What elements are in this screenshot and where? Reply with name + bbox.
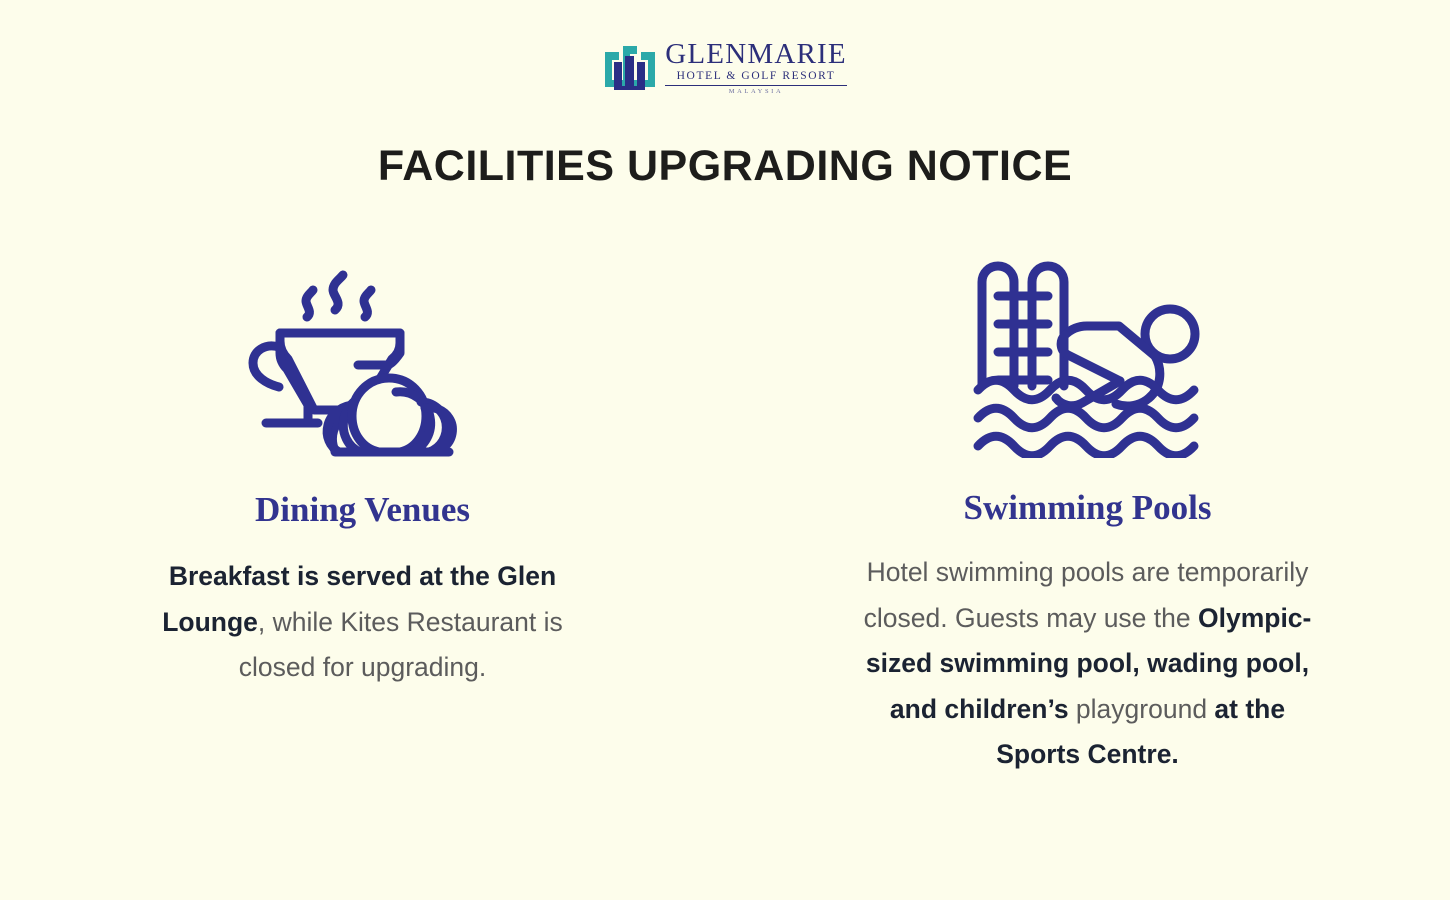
swimming-pool-icon xyxy=(964,255,1212,460)
brand-logo: GLENMARIE HOTEL & GOLF RESORT MALAYSIA xyxy=(0,40,1450,95)
facility-card-pools: Swimming Pools Hotel swimming pools are … xyxy=(725,255,1450,778)
facility-body-dining: Breakfast is served at the Glen Lounge, … xyxy=(135,554,590,691)
page-title: FACILITIES UPGRADING NOTICE xyxy=(0,142,1450,191)
logo-subtitle: HOTEL & GOLF RESORT xyxy=(665,71,847,86)
logo-wordmark: GLENMARIE HOTEL & GOLF RESORT MALAYSIA xyxy=(665,40,847,95)
facility-columns: Dining Venues Breakfast is served at the… xyxy=(0,255,1450,778)
facility-heading-pools: Swimming Pools xyxy=(964,488,1212,528)
facility-heading-dining: Dining Venues xyxy=(255,490,470,530)
glenmarie-logo-mark xyxy=(603,42,657,94)
facility-card-dining: Dining Venues Breakfast is served at the… xyxy=(0,255,725,778)
logo-name: GLENMARIE xyxy=(665,40,847,69)
logo-country: MALAYSIA xyxy=(729,89,784,96)
facility-body-pools: Hotel swimming pools are temporarily clo… xyxy=(848,550,1328,778)
body-text-regular: playground xyxy=(1069,694,1215,724)
coffee-croissant-icon xyxy=(239,255,487,460)
body-text-regular: , while Kites Restaurant is closed for u… xyxy=(239,607,563,683)
